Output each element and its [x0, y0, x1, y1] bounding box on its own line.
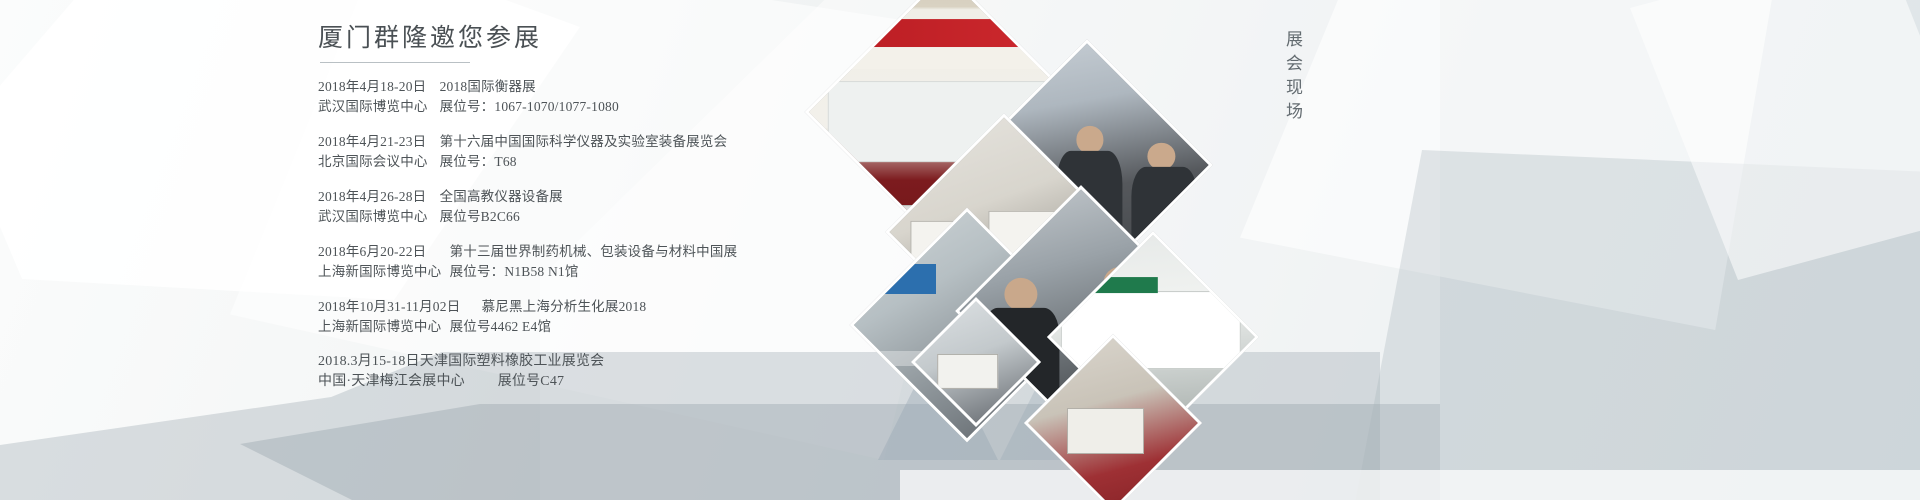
event-name: 第十三届世界制药机械、包装设备与材料中国展 [450, 242, 738, 262]
event-booth: 展位号B2C66 [440, 207, 520, 227]
event-booth: 展位号：N1B58 N1馆 [450, 262, 579, 282]
title-divider [320, 62, 470, 63]
photo-collage [820, 0, 1240, 500]
event-date: 2018年4月26-28日 [318, 187, 436, 207]
event-date: 2018年4月18-20日 [318, 77, 436, 97]
event-venue: 中国·天津梅江会展中心 [318, 372, 494, 392]
event-booth: 展位号4462 E4馆 [450, 317, 552, 337]
event-venue: 北京国际会议中心 [318, 152, 436, 172]
event-date: 2018.3月15-18日天津国际塑料橡胶工业展览会 [318, 352, 604, 372]
event-venue: 武汉国际博览中心 [318, 97, 436, 117]
event-name: 慕尼黑上海分析生化展2018 [482, 297, 647, 317]
event-venue: 武汉国际博览中心 [318, 207, 436, 227]
event-date: 2018年4月21-23日 [318, 132, 436, 152]
event-name: 2018国际衡器展 [440, 77, 536, 97]
photo-staff-head-1 [1004, 278, 1037, 311]
photo-red-booth-device [1067, 408, 1144, 454]
photo-red-banner [816, 19, 1077, 47]
event-venue: 上海新国际博览中心 [318, 317, 446, 337]
photo-booth-sign [859, 264, 936, 295]
event-name: 第十六届中国国际科学仪器及实验室装备展览会 [440, 132, 728, 152]
vertical-caption: 展会现场 [1280, 30, 1305, 126]
event-name: 全国高教仪器设备展 [440, 187, 563, 207]
event-booth: 展位号C47 [498, 372, 565, 392]
event-date: 2018年6月20-22日 [318, 242, 446, 262]
event-date: 2018年10月31-11月02日 [318, 297, 478, 317]
photo-device-a [840, 205, 877, 242]
photo-company-strip [834, 47, 1051, 69]
event-booth: 展位号：1067-1070/1077-1080 [440, 97, 619, 117]
photo-closeup-device [937, 354, 998, 390]
event-venue: 上海新国际博览中心 [318, 262, 446, 282]
event-booth: 展位号：T68 [440, 152, 517, 172]
